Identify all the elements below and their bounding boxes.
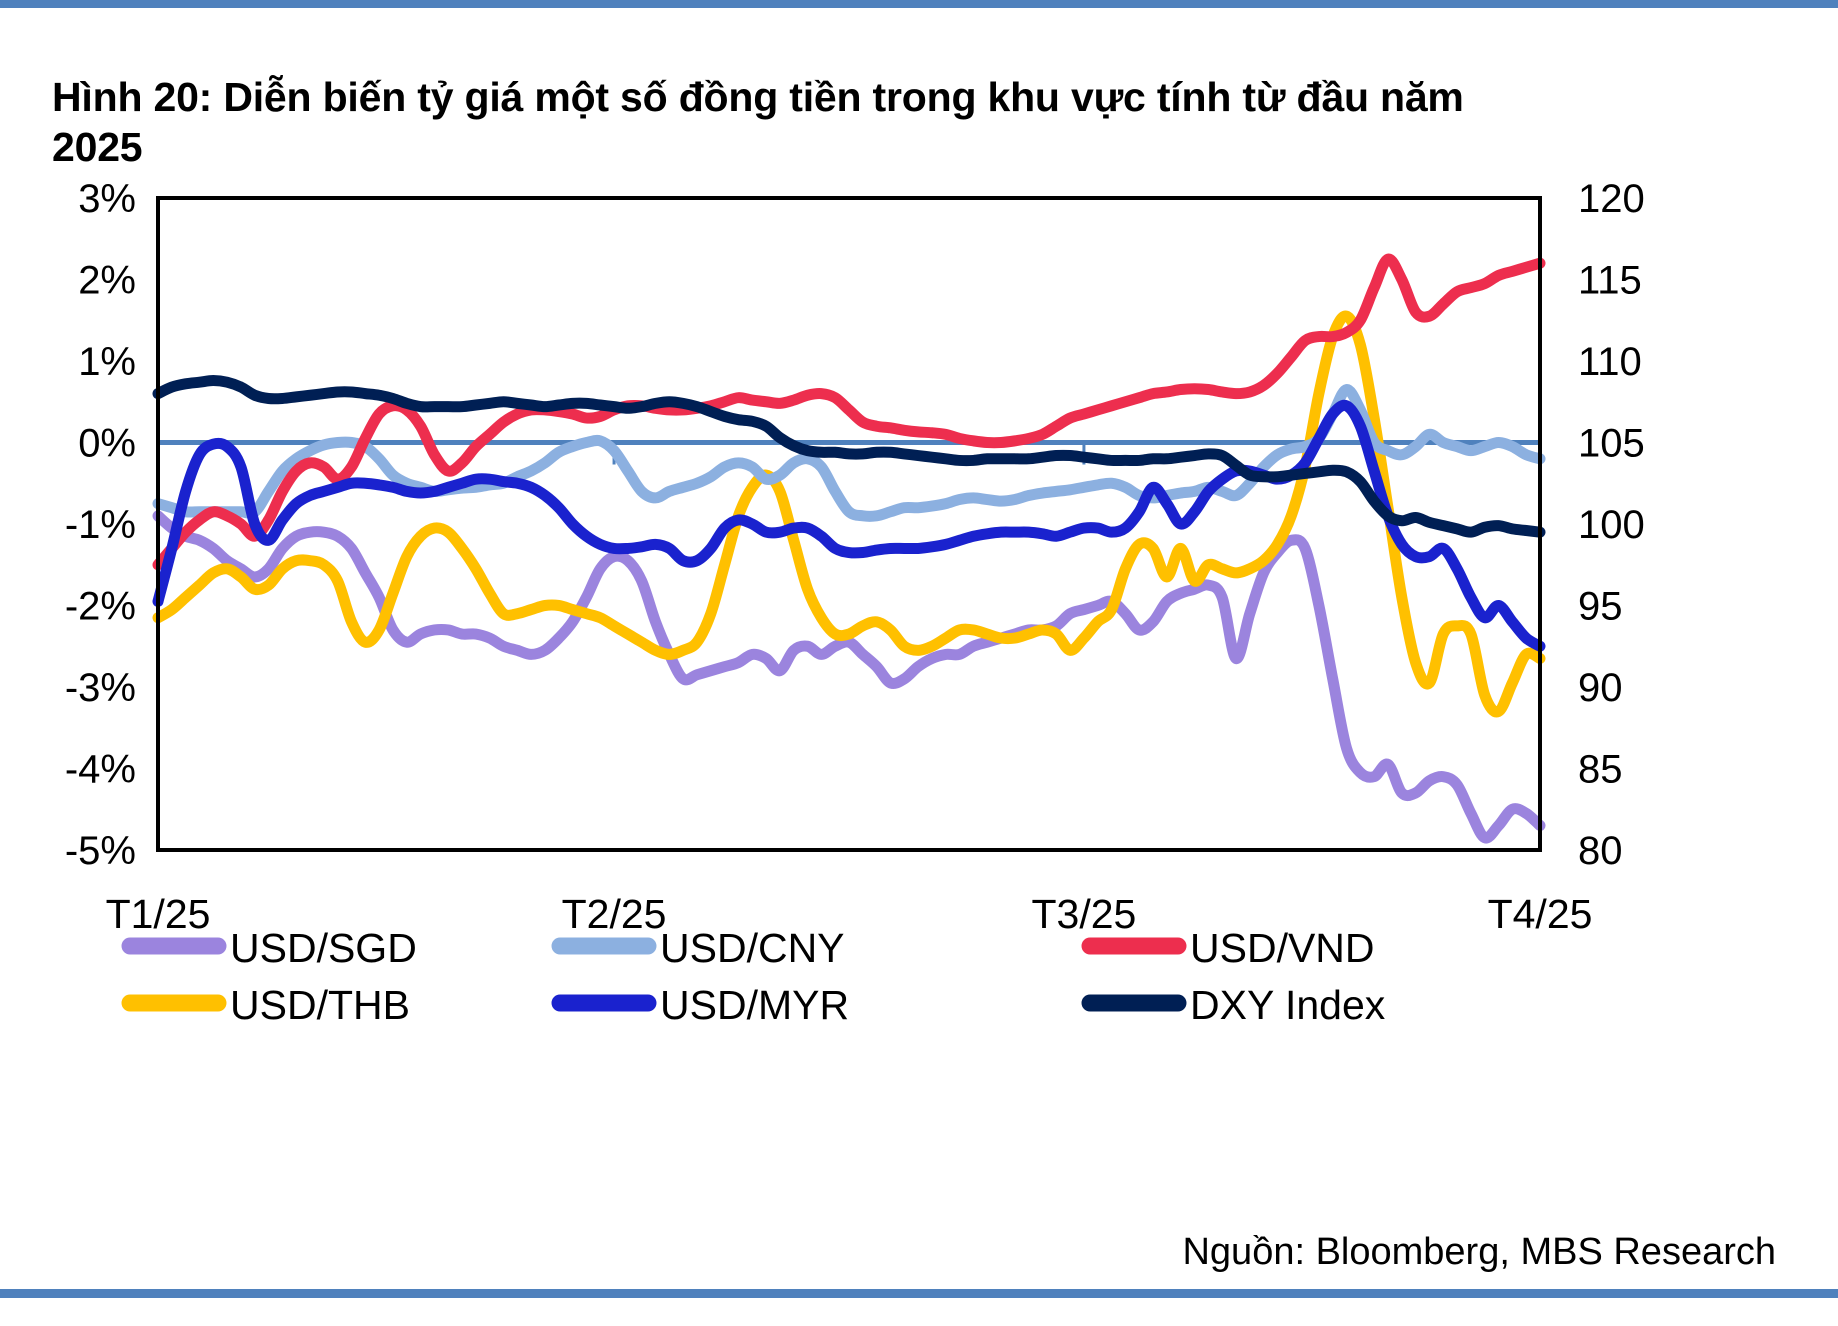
left-tick-label: -2%: [65, 585, 136, 629]
legend-label: USD/MYR: [660, 982, 849, 1028]
legend-label: USD/THB: [230, 982, 410, 1028]
left-tick-label: -3%: [65, 666, 136, 710]
right-tick-label: 100: [1578, 503, 1645, 547]
series-line-usd-sgd: [158, 516, 1540, 838]
currency-line-chart: 3%2%1%0%-1%-2%-3%-4%-5% 1201151101051009…: [0, 178, 1838, 1138]
left-tick-label: -1%: [65, 503, 136, 547]
right-axis-tick-labels: 12011511010510095908580: [1578, 178, 1645, 873]
legend-label: DXY Index: [1190, 982, 1386, 1028]
right-tick-label: 80: [1578, 829, 1623, 873]
series-lines: [158, 259, 1540, 838]
right-tick-label: 105: [1578, 422, 1645, 466]
source-note: Nguồn: Bloomberg, MBS Research: [1182, 1231, 1776, 1274]
x-tick-label: T3/25: [1032, 891, 1137, 937]
right-tick-label: 85: [1578, 748, 1623, 792]
plot-area-border: [158, 198, 1540, 850]
top-accent-bar: [0, 0, 1838, 8]
right-tick-label: 115: [1578, 259, 1642, 303]
right-tick-label: 110: [1578, 340, 1642, 384]
left-tick-label: -5%: [65, 829, 136, 873]
right-tick-label: 120: [1578, 178, 1645, 221]
legend-label: USD/SGD: [230, 925, 417, 971]
chart-legend: USD/SGDUSD/CNYUSD/VNDUSD/THBUSD/MYRDXY I…: [130, 925, 1386, 1028]
legend-label: USD/VND: [1190, 925, 1375, 971]
left-tick-label: 1%: [78, 340, 136, 384]
left-tick-label: 0%: [78, 422, 136, 466]
figure-title: Hình 20: Diễn biến tỷ giá một số đồng ti…: [52, 72, 1492, 172]
left-axis-tick-labels: 3%2%1%0%-1%-2%-3%-4%-5%: [65, 178, 136, 873]
legend-item[interactable]: DXY Index: [1090, 982, 1386, 1028]
x-tick-label: T4/25: [1488, 891, 1593, 937]
right-tick-label: 95: [1578, 585, 1623, 629]
x-tick-label: T1/25: [106, 891, 211, 937]
legend-label: USD/CNY: [660, 925, 845, 971]
legend-item[interactable]: USD/THB: [130, 982, 410, 1028]
right-tick-label: 90: [1578, 666, 1623, 710]
legend-item[interactable]: USD/MYR: [560, 982, 849, 1028]
left-tick-label: -4%: [65, 748, 136, 792]
x-tick-label: T2/25: [562, 891, 667, 937]
left-tick-label: 3%: [78, 178, 136, 221]
chart-container: 3%2%1%0%-1%-2%-3%-4%-5% 1201151101051009…: [0, 178, 1838, 1138]
bottom-accent-bar: [0, 1289, 1838, 1298]
left-tick-label: 2%: [78, 259, 136, 303]
